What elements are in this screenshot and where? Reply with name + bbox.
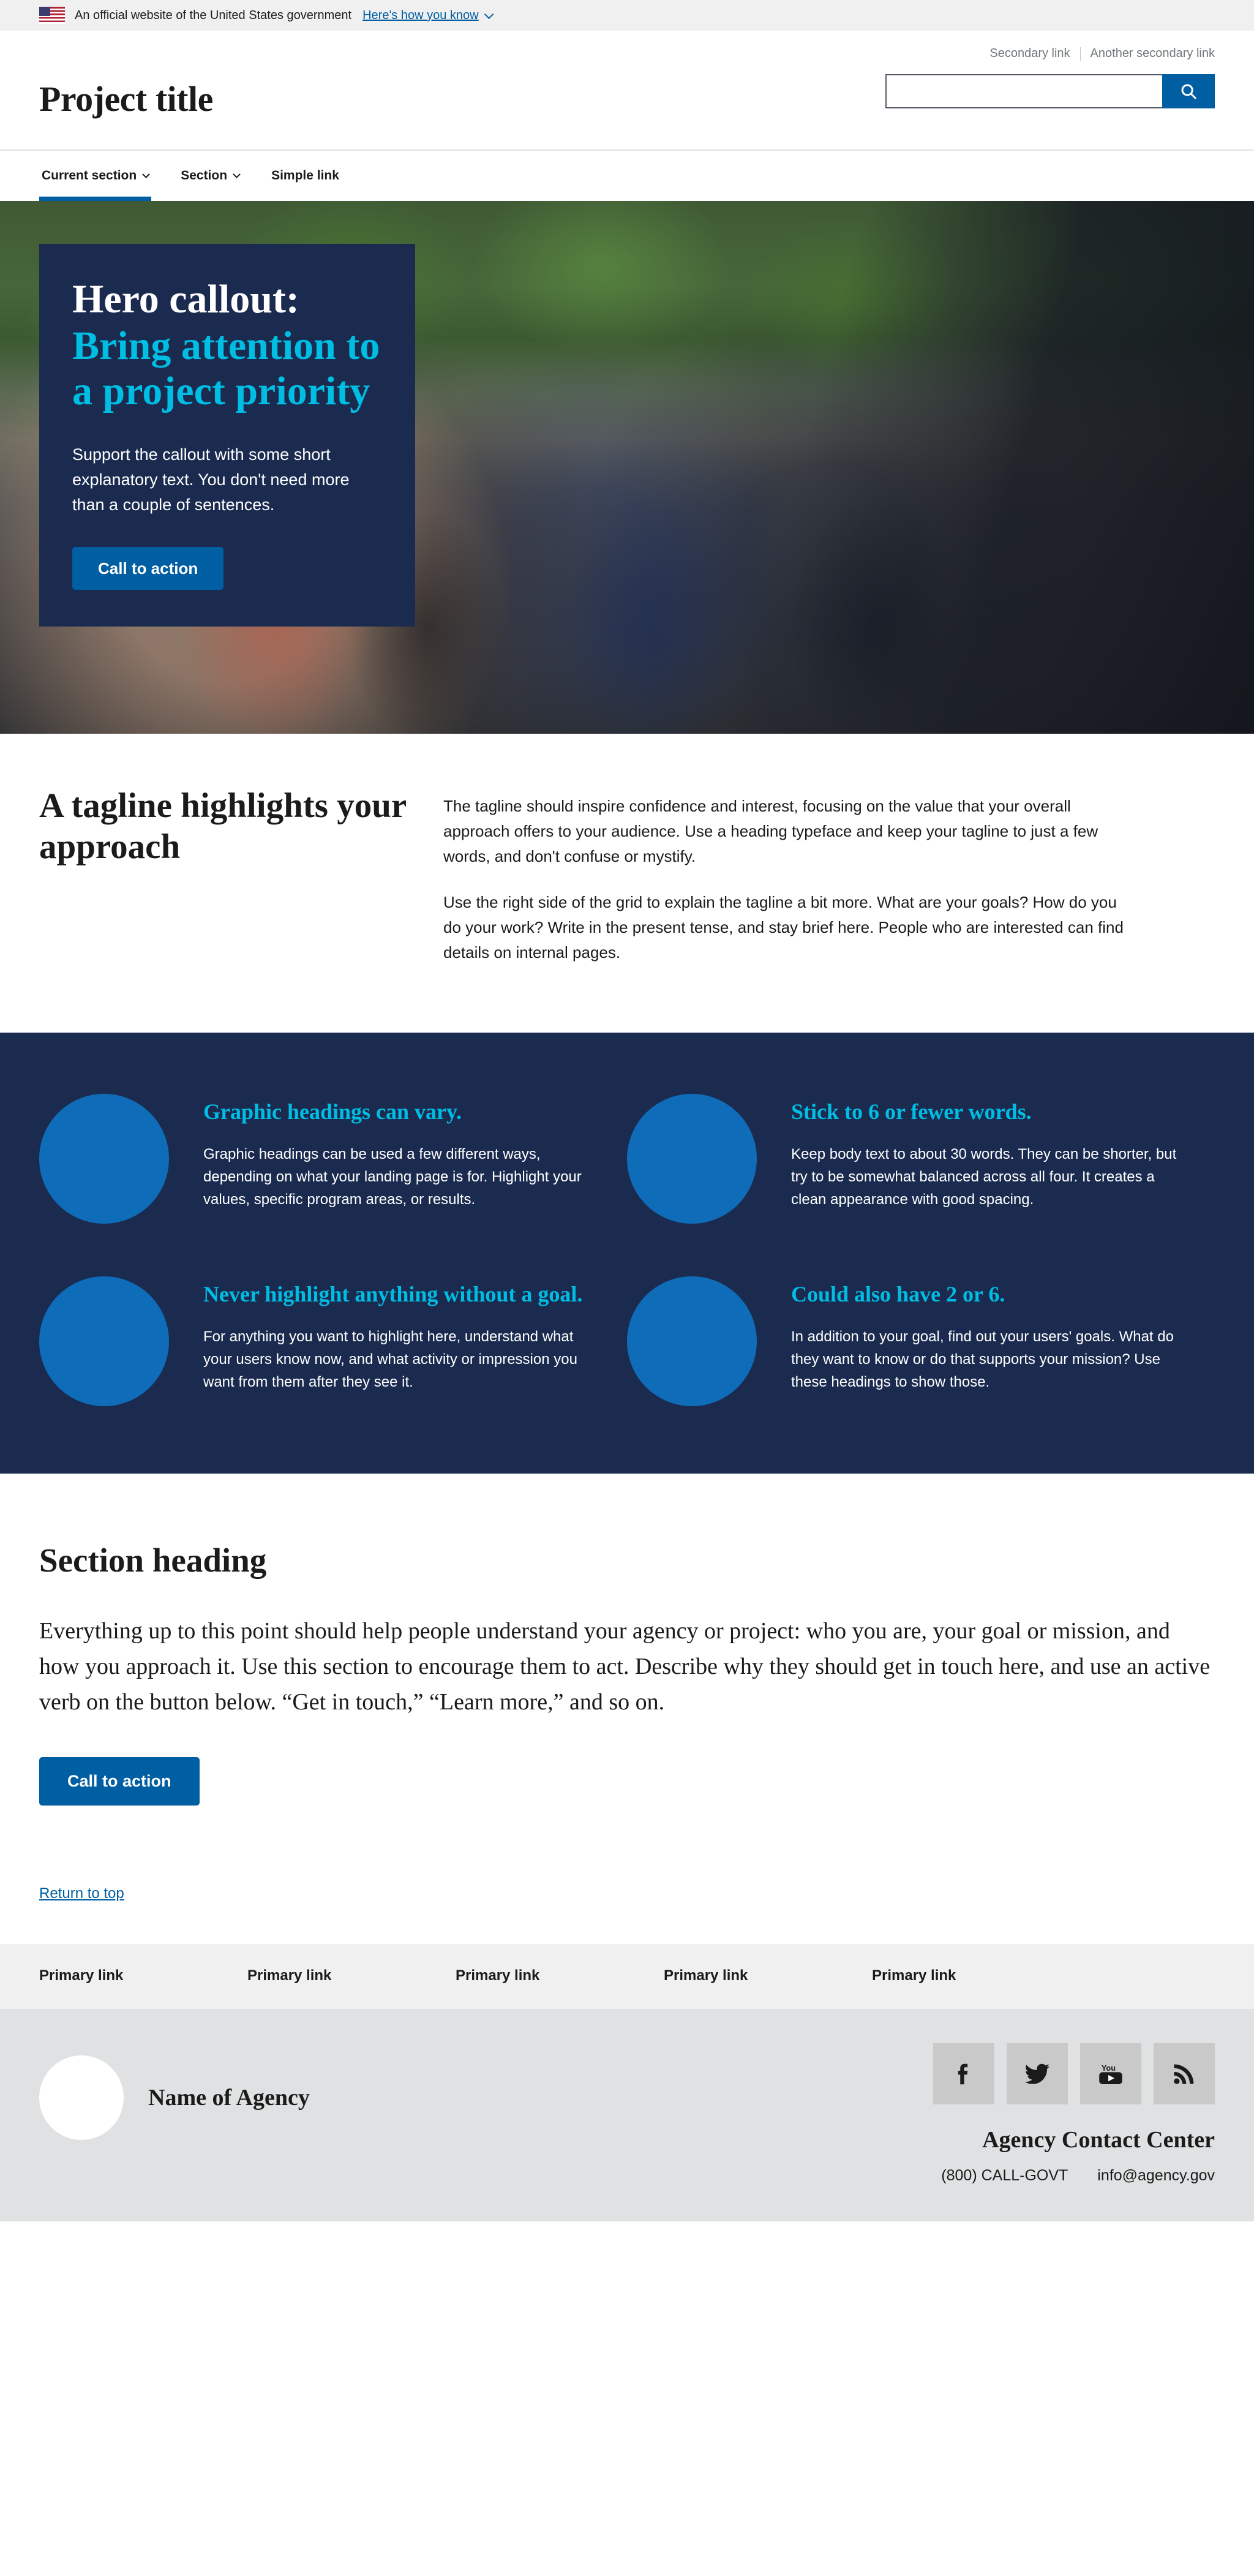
graphic-item-heading: Never highlight anything without a goal. bbox=[203, 1281, 599, 1308]
how-you-know-link[interactable]: Here's how you know bbox=[362, 9, 490, 23]
chevron-down-icon bbox=[484, 9, 494, 19]
nav-item-simple-link[interactable]: Simple link bbox=[269, 151, 342, 201]
primary-navigation: Current section Section Simple link bbox=[0, 151, 1254, 201]
gov-banner: An official website of the United States… bbox=[0, 0, 1254, 31]
footer-primary-link-4[interactable]: Primary link bbox=[664, 1967, 872, 1984]
footer-primary-link-3[interactable]: Primary link bbox=[456, 1967, 664, 1984]
graphic-list-item: Graphic headings can vary. Graphic headi… bbox=[39, 1094, 627, 1224]
nav-item-simple-link-label: Simple link bbox=[271, 168, 339, 183]
footer-contact-block: You Agency Contact Center (800) CALL-GOV… bbox=[933, 2043, 1215, 2185]
search-input[interactable] bbox=[885, 74, 1162, 108]
graphic-list-row: Never highlight anything without a goal.… bbox=[39, 1276, 1215, 1406]
twitter-icon[interactable] bbox=[1007, 2043, 1068, 2104]
hero-title-accent: Bring attention to a project priority bbox=[72, 323, 382, 414]
search-icon bbox=[1179, 82, 1198, 100]
graphic-item-heading: Could also have 2 or 6. bbox=[791, 1281, 1187, 1308]
facebook-icon[interactable] bbox=[933, 2043, 994, 2104]
tagline-paragraph-1: The tagline should inspire confidence an… bbox=[443, 794, 1135, 869]
secondary-links-divider bbox=[1080, 47, 1081, 61]
site-header: Project title Secondary link Another sec… bbox=[0, 31, 1254, 151]
how-you-know-label: Here's how you know bbox=[362, 9, 478, 22]
nav-item-section-label: Section bbox=[181, 168, 227, 183]
tagline-section: A tagline highlights your approach The t… bbox=[0, 734, 1254, 1033]
tagline-heading: A tagline highlights your approach bbox=[39, 785, 419, 868]
footer-primary-link-5[interactable]: Primary link bbox=[872, 1967, 1080, 1984]
nav-item-current-section[interactable]: Current section bbox=[39, 151, 151, 201]
agency-seal-icon bbox=[39, 2055, 124, 2140]
graphic-list-item: Stick to 6 or fewer words. Keep body tex… bbox=[627, 1094, 1215, 1224]
graphic-circle-icon bbox=[627, 1094, 757, 1224]
footer-primary-links: Primary link Primary link Primary link P… bbox=[0, 1944, 1254, 2009]
gov-banner-text: An official website of the United States… bbox=[75, 9, 351, 23]
chevron-down-icon bbox=[142, 170, 150, 178]
hero-call-to-action-button[interactable]: Call to action bbox=[72, 547, 223, 590]
search-form bbox=[885, 74, 1215, 108]
nav-item-current-section-label: Current section bbox=[42, 168, 137, 183]
section-body-text: Everything up to this point should help … bbox=[39, 1614, 1215, 1720]
footer-primary-link-1[interactable]: Primary link bbox=[39, 1967, 247, 1984]
graphic-item-text: Keep body text to about 30 words. They c… bbox=[791, 1143, 1187, 1211]
tagline-right-column: The tagline should inspire confidence an… bbox=[443, 785, 1135, 965]
tagline-paragraph-2: Use the right side of the grid to explai… bbox=[443, 890, 1135, 965]
graphic-circle-icon bbox=[39, 1094, 169, 1224]
hero-callout: Hero callout: Bring attention to a proje… bbox=[39, 244, 415, 627]
footer-secondary: Name of Agency You bbox=[0, 2009, 1254, 2221]
hero-title: Hero callout: bbox=[72, 277, 382, 322]
youtube-icon[interactable]: You bbox=[1080, 2043, 1141, 2104]
content-section: Section heading Everything up to this po… bbox=[0, 1474, 1254, 1943]
chevron-down-icon bbox=[233, 170, 241, 178]
site-title[interactable]: Project title bbox=[39, 78, 213, 119]
secondary-link-2[interactable]: Another secondary link bbox=[1091, 47, 1215, 61]
landing-page: An official website of the United States… bbox=[0, 0, 1254, 2221]
contact-details: (800) CALL-GOVT info@agency.gov bbox=[941, 2167, 1215, 2185]
contact-center-title: Agency Contact Center bbox=[982, 2126, 1215, 2153]
search-submit-button[interactable] bbox=[1162, 74, 1215, 108]
secondary-link-1[interactable]: Secondary link bbox=[989, 47, 1070, 61]
return-to-top-link[interactable]: Return to top bbox=[39, 1885, 124, 1902]
secondary-links: Secondary link Another secondary link bbox=[989, 47, 1215, 61]
rss-icon[interactable] bbox=[1154, 2043, 1215, 2104]
graphic-item-heading: Graphic headings can vary. bbox=[203, 1099, 599, 1125]
graphic-list-section: Graphic headings can vary. Graphic headi… bbox=[0, 1033, 1254, 1474]
section-heading: Section heading bbox=[39, 1541, 1215, 1580]
header-right: Secondary link Another secondary link bbox=[885, 47, 1215, 108]
footer-primary-link-2[interactable]: Primary link bbox=[247, 1967, 456, 1984]
agency-name: Name of Agency bbox=[148, 2084, 310, 2111]
footer-agency-block: Name of Agency bbox=[39, 2043, 310, 2140]
hero-section: Hero callout: Bring attention to a proje… bbox=[0, 201, 1254, 734]
contact-email[interactable]: info@agency.gov bbox=[1097, 2167, 1215, 2185]
graphic-item-text: In addition to your goal, find out your … bbox=[791, 1325, 1187, 1394]
section-call-to-action-button[interactable]: Call to action bbox=[39, 1757, 200, 1806]
graphic-list-item: Never highlight anything without a goal.… bbox=[39, 1276, 627, 1406]
graphic-item-heading: Stick to 6 or fewer words. bbox=[791, 1099, 1187, 1125]
contact-phone[interactable]: (800) CALL-GOVT bbox=[941, 2167, 1068, 2185]
nav-item-section[interactable]: Section bbox=[178, 151, 242, 201]
tagline-left-column: A tagline highlights your approach bbox=[39, 785, 443, 965]
graphic-item-text: For anything you want to highlight here,… bbox=[203, 1325, 599, 1394]
graphic-circle-icon bbox=[627, 1276, 757, 1406]
svg-text:You: You bbox=[1102, 2063, 1116, 2073]
graphic-circle-icon bbox=[39, 1276, 169, 1406]
us-flag-icon bbox=[39, 7, 65, 24]
social-links: You bbox=[933, 2043, 1215, 2104]
graphic-item-text: Graphic headings can be used a few diffe… bbox=[203, 1143, 599, 1211]
graphic-list-row: Graphic headings can vary. Graphic headi… bbox=[39, 1094, 1215, 1224]
hero-body-text: Support the callout with some short expl… bbox=[72, 442, 382, 518]
graphic-list-item: Could also have 2 or 6. In addition to y… bbox=[627, 1276, 1215, 1406]
